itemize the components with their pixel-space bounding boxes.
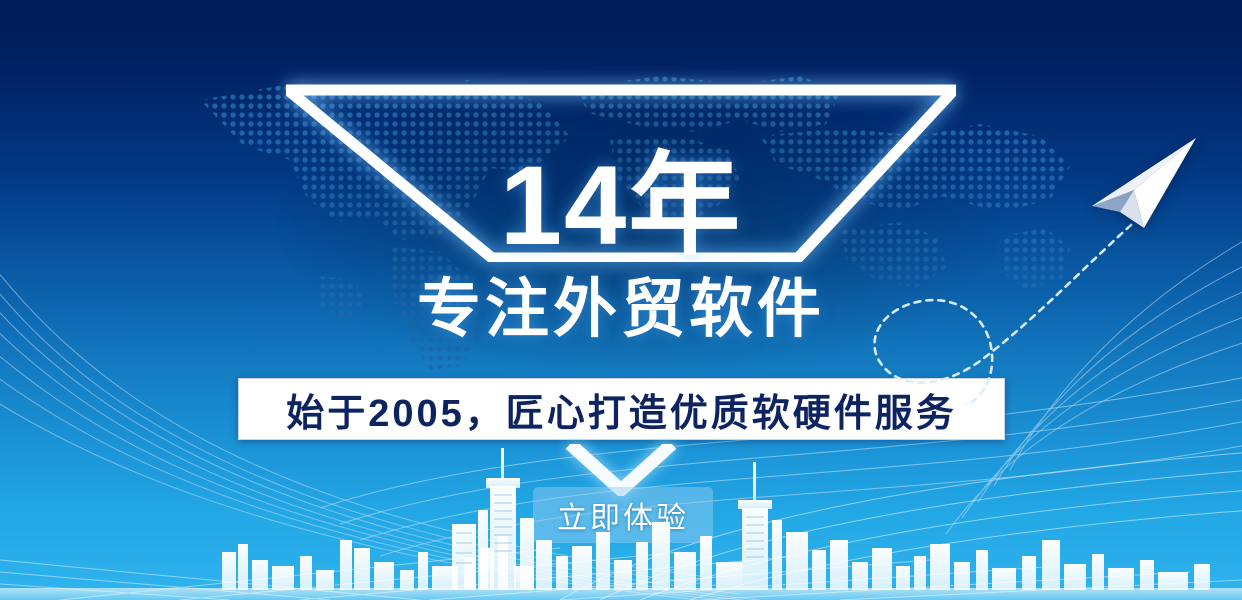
subtitle-text: 始于2005，匠心打造优质软硬件服务 bbox=[286, 382, 957, 437]
promo-banner: 14年 专注外贸软件 始于2005，匠心打造优质软硬件服务 立即体验 bbox=[0, 0, 1242, 600]
headline-tagline: 专注外贸软件 bbox=[0, 276, 1242, 343]
cta-label: 立即体验 bbox=[557, 493, 689, 537]
subtitle-bar: 始于2005，匠心打造优质软硬件服务 bbox=[238, 378, 1005, 440]
paper-plane-icon bbox=[1086, 134, 1202, 242]
cta-button[interactable]: 立即体验 bbox=[533, 487, 713, 543]
trapezoid-frame bbox=[286, 84, 956, 262]
